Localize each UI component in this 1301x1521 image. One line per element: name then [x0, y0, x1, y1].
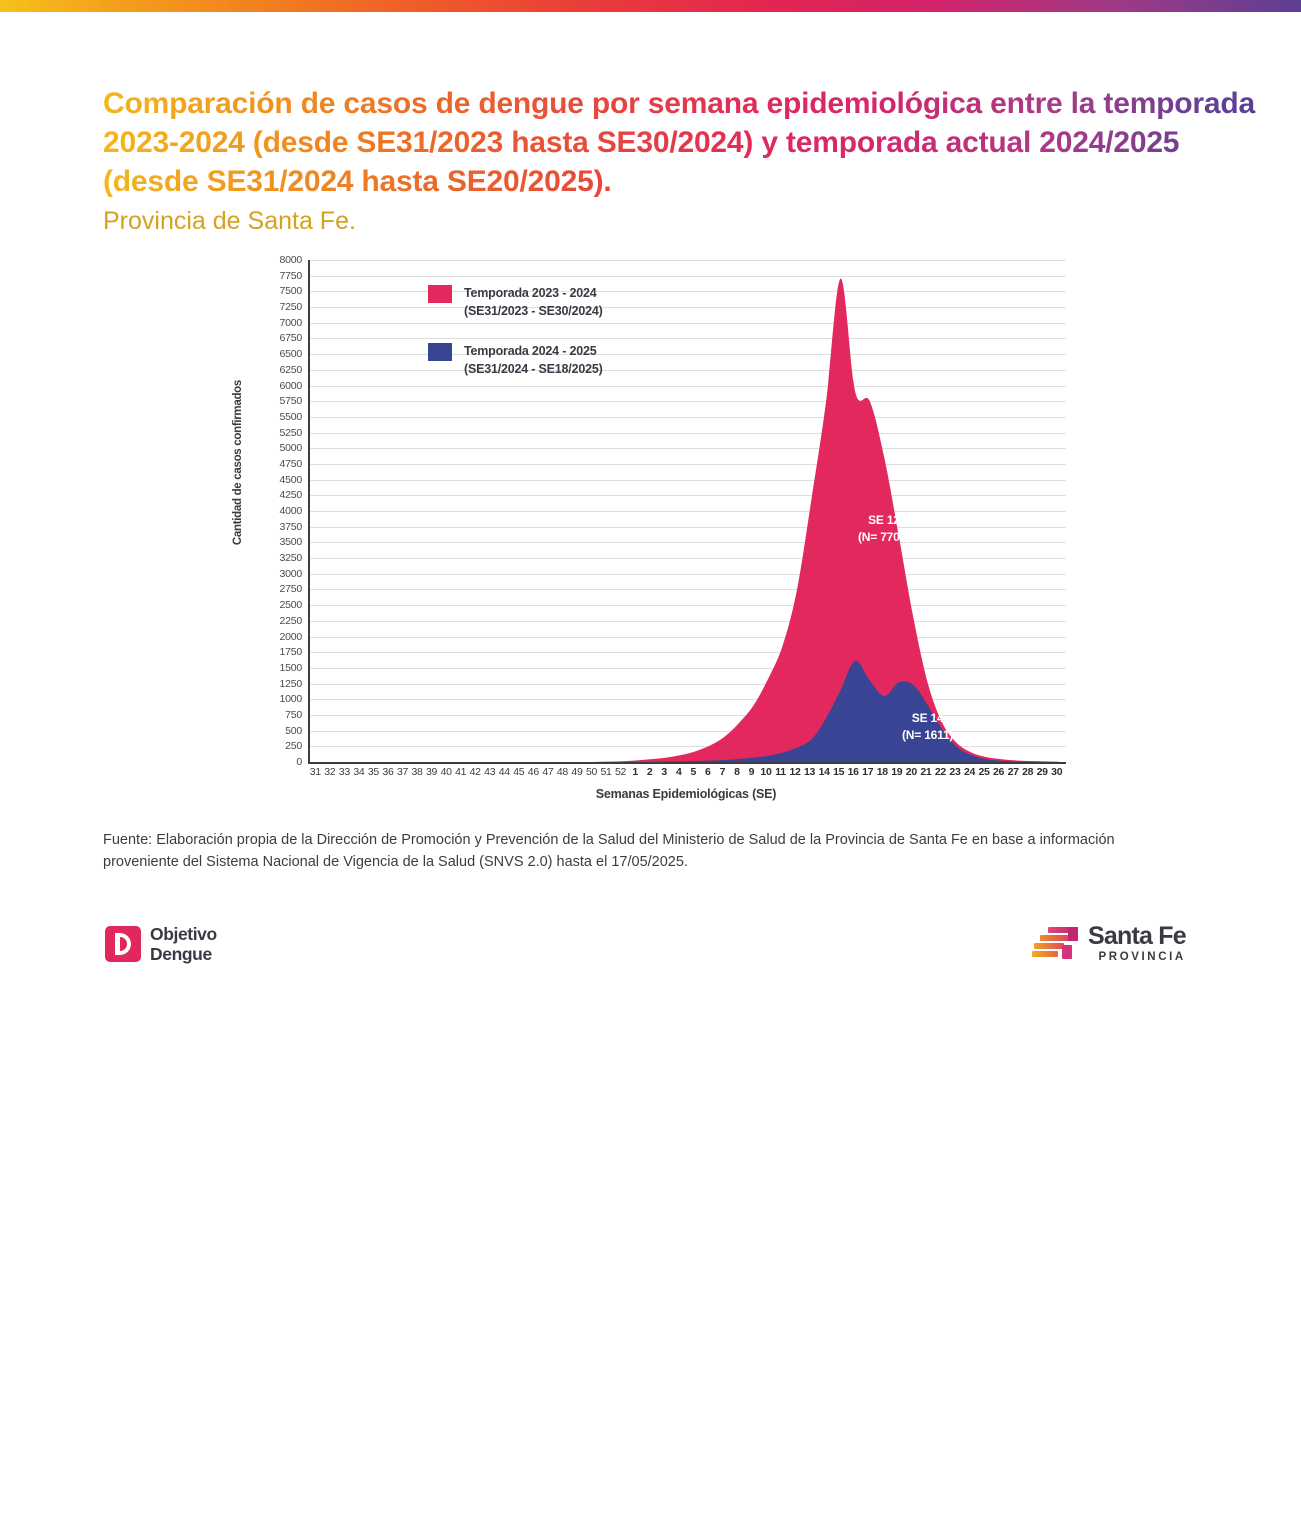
legend-swatch-red [428, 285, 452, 303]
y-axis-tick: 5250 [279, 427, 302, 439]
x-axis-tick: 50 [586, 766, 597, 778]
top-gradient-bar [0, 0, 1301, 12]
legend-label-red-line1: Temporada 2023 - 2024 [464, 286, 596, 300]
y-axis-tick: 8000 [279, 254, 302, 266]
x-axis-tick: 9 [749, 766, 755, 778]
logo-objetivo-dengue: Objetivo Dengue [105, 924, 217, 964]
x-axis-tick: 14 [819, 766, 830, 778]
y-axis-tick: 2500 [279, 599, 302, 611]
y-axis-tick: 4000 [279, 505, 302, 517]
y-axis-tick: 4250 [279, 489, 302, 501]
plot-area: Temporada 2023 - 2024 (SE31/2023 - SE30/… [308, 260, 1066, 764]
y-axis-tick: 250 [285, 740, 302, 752]
x-axis-tick: 28 [1022, 766, 1033, 778]
y-axis-title: Cantidad de casos confirmados [232, 380, 250, 545]
y-axis-tick: 5750 [279, 395, 302, 407]
y-axis-tick: 7250 [279, 301, 302, 313]
y-axis-tick: 3750 [279, 521, 302, 533]
y-axis-tick: 6250 [279, 364, 302, 376]
annotation-red-count: (N= 7704) [858, 530, 910, 544]
y-axis-tick: 3000 [279, 568, 302, 580]
x-axis-tick: 46 [528, 766, 539, 778]
legend-label-blue: Temporada 2024 - 2025 (SE31/2024 - SE18/… [464, 342, 603, 378]
x-axis-tick: 2 [647, 766, 653, 778]
annotation-blue-peak: SE 14 (N= 1611) [902, 710, 953, 745]
x-axis-title: Semanas Epidemiológicas (SE) [308, 787, 1064, 801]
legend-label-red-line2: (SE31/2023 - SE30/2024) [464, 304, 603, 318]
x-axis-tick: 37 [397, 766, 408, 778]
annotation-red-peak: SE 12 (N= 7704) [858, 512, 910, 547]
x-axis-tick: 8 [734, 766, 740, 778]
y-axis-tick: 3250 [279, 552, 302, 564]
x-axis-tick: 1 [632, 766, 638, 778]
x-axis-tick: 36 [382, 766, 393, 778]
y-axis-tick: 5500 [279, 411, 302, 423]
letter-d-icon [105, 926, 141, 962]
logo-sf-sub: PROVINCIA [1088, 952, 1186, 964]
x-axis-tick: 33 [339, 766, 350, 778]
logo-od-line2: Dengue [150, 944, 212, 964]
x-axis-tick: 32 [324, 766, 335, 778]
santa-fe-bar [1068, 927, 1078, 941]
x-axis-tick: 47 [542, 766, 553, 778]
x-axis-tick: 49 [571, 766, 582, 778]
santa-fe-bars-icon [1032, 925, 1078, 963]
x-axis-tick: 42 [470, 766, 481, 778]
santa-fe-bar [1062, 945, 1072, 959]
x-axis-tick: 18 [877, 766, 888, 778]
y-axis-tick: 1250 [279, 678, 302, 690]
x-axis-tick: 7 [720, 766, 726, 778]
logo-od-line1: Objetivo [150, 924, 217, 944]
y-axis-tick-labels: 0250500750100012501500175020002250250027… [250, 260, 302, 762]
x-axis-tick: 11 [775, 766, 786, 778]
x-axis-tick: 26 [993, 766, 1004, 778]
logo-santa-fe-text: Santa Fe PROVINCIA [1088, 924, 1186, 964]
x-axis-tick: 21 [920, 766, 931, 778]
x-axis-tick: 39 [426, 766, 437, 778]
y-axis-tick: 500 [285, 725, 302, 737]
x-axis-tick: 38 [411, 766, 422, 778]
x-axis-tick: 23 [949, 766, 960, 778]
y-axis-tick: 6750 [279, 332, 302, 344]
y-axis-tick: 4500 [279, 474, 302, 486]
y-axis-tick: 1500 [279, 662, 302, 674]
y-axis-tick: 1000 [279, 693, 302, 705]
logo-sf-name: Santa Fe [1088, 924, 1186, 949]
x-axis-tick: 10 [760, 766, 771, 778]
y-axis-tick: 4750 [279, 458, 302, 470]
y-axis-tick: 7000 [279, 317, 302, 329]
x-axis-tick: 30 [1051, 766, 1062, 778]
x-axis-tick: 48 [557, 766, 568, 778]
x-axis-tick: 29 [1037, 766, 1048, 778]
x-axis-tick: 40 [441, 766, 452, 778]
y-axis-tick: 5000 [279, 442, 302, 454]
y-axis-tick: 7500 [279, 285, 302, 297]
x-axis-tick: 5 [690, 766, 696, 778]
x-axis-tick: 31 [310, 766, 321, 778]
chart-container: Cantidad de casos confirmados 0250500750… [236, 260, 1076, 815]
page-title: Comparación de casos de dengue por seman… [103, 84, 1263, 201]
y-axis-tick: 0 [296, 756, 302, 768]
y-axis-tick: 2000 [279, 631, 302, 643]
x-axis-tick: 41 [455, 766, 466, 778]
y-axis-tick: 2250 [279, 615, 302, 627]
legend-item-temporada-2023-2024: Temporada 2023 - 2024 (SE31/2023 - SE30/… [428, 284, 728, 320]
annotation-blue-count: (N= 1611) [902, 728, 953, 742]
x-axis-tick: 51 [600, 766, 611, 778]
x-axis-tick: 3 [661, 766, 667, 778]
santa-fe-bar [1032, 951, 1058, 957]
page-subtitle: Provincia de Santa Fe. [103, 205, 1263, 238]
y-axis-tick: 750 [285, 709, 302, 721]
title-block: Comparación de casos de dengue por seman… [103, 84, 1263, 238]
y-axis-tick: 1750 [279, 646, 302, 658]
x-axis-tick: 34 [353, 766, 364, 778]
x-axis-tick: 20 [906, 766, 917, 778]
legend-item-temporada-2024-2025: Temporada 2024 - 2025 (SE31/2024 - SE18/… [428, 342, 728, 378]
x-axis-tick: 44 [499, 766, 510, 778]
source-line1: Fuente: Elaboración propia de la Direcci… [103, 832, 1024, 848]
annotation-blue-week: SE 14 [912, 711, 944, 725]
x-axis-tick: 35 [368, 766, 379, 778]
x-axis-tick: 12 [789, 766, 800, 778]
x-axis-tick: 13 [804, 766, 815, 778]
x-axis-tick: 6 [705, 766, 711, 778]
santa-fe-bar [1034, 943, 1064, 949]
chart-legend: Temporada 2023 - 2024 (SE31/2023 - SE30/… [428, 284, 728, 401]
legend-label-red: Temporada 2023 - 2024 (SE31/2023 - SE30/… [464, 284, 603, 320]
y-axis-tick: 2750 [279, 583, 302, 595]
x-axis-tick: 22 [935, 766, 946, 778]
logo-objetivo-dengue-text: Objetivo Dengue [150, 924, 217, 964]
y-axis-tick: 6500 [279, 348, 302, 360]
y-axis-tick: 7750 [279, 270, 302, 282]
y-axis-tick: 6000 [279, 380, 302, 392]
x-axis-tick: 52 [615, 766, 626, 778]
x-axis-tick: 24 [964, 766, 975, 778]
x-axis-tick-labels: 3132333435363738394041424344454647484950… [308, 766, 1064, 786]
legend-swatch-blue [428, 343, 452, 361]
x-axis-tick: 16 [848, 766, 859, 778]
source-note: Fuente: Elaboración propia de la Direcci… [103, 830, 1173, 874]
logo-santa-fe: Santa Fe PROVINCIA [1032, 924, 1186, 964]
x-axis-tick: 25 [978, 766, 989, 778]
x-axis-tick: 15 [833, 766, 844, 778]
x-axis-tick: 4 [676, 766, 682, 778]
y-axis-tick: 3500 [279, 536, 302, 548]
legend-label-blue-line2: (SE31/2024 - SE18/2025) [464, 362, 603, 376]
x-axis-tick: 45 [513, 766, 524, 778]
x-axis-tick: 17 [862, 766, 873, 778]
x-axis-tick: 43 [484, 766, 495, 778]
x-axis-tick: 19 [891, 766, 902, 778]
annotation-red-week: SE 12 [868, 513, 900, 527]
x-axis-tick: 27 [1008, 766, 1019, 778]
legend-label-blue-line1: Temporada 2024 - 2025 [464, 344, 596, 358]
